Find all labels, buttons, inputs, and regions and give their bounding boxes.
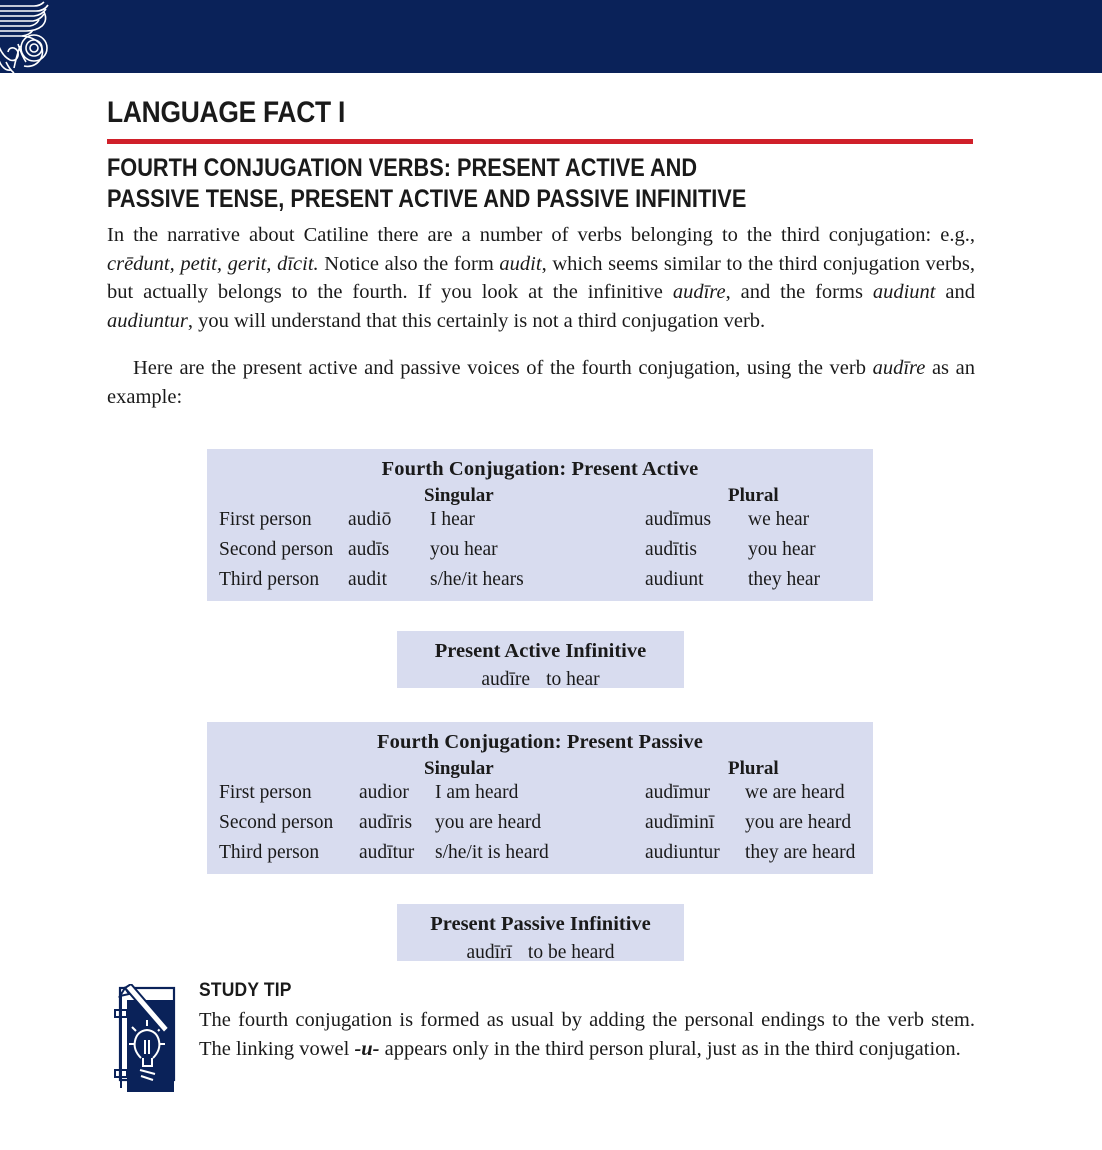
singular-english: I am heard <box>435 782 518 804</box>
latin-form-audit: audit <box>499 253 541 275</box>
example-text-1: Here are the present active and passive … <box>133 357 873 379</box>
infinitive-caption: Present Passive Infinitive <box>397 904 684 936</box>
plural-header: Plural <box>728 485 779 507</box>
example-intro-paragraph: Here are the present active and passive … <box>107 354 975 411</box>
infinitive-latin: audīrī <box>466 942 511 963</box>
person-label: Third person <box>219 842 319 864</box>
infinitive-english: to hear <box>546 669 600 690</box>
latin-form-audire: audīre <box>673 281 726 303</box>
plural-latin: audītis <box>645 539 697 561</box>
person-label: First person <box>219 509 312 531</box>
singular-latin: audītur <box>359 842 414 864</box>
study-tip-text: The fourth conjugation is formed as usua… <box>199 1006 975 1063</box>
table-row: First person audior I am heard audīmur w… <box>207 782 873 812</box>
table-number-headers: Singular Plural <box>207 481 873 509</box>
latin-forms-list: crēdunt, petit, gerit, dīcit. <box>107 253 319 275</box>
subtitle-line-2: PASSIVE TENSE, PRESENT ACTIVE AND PASSIV… <box>107 185 746 213</box>
table-caption: Fourth Conjugation: Present Passive <box>207 722 873 754</box>
singular-header: Singular <box>424 485 494 507</box>
latin-form-audiunt: audiunt <box>873 281 936 303</box>
page-header-band <box>0 0 1102 73</box>
intro-paragraph: In the narrative about Catiline there ar… <box>107 221 975 335</box>
table-caption: Fourth Conjugation: Present Active <box>207 449 873 481</box>
table-row: Second person audīris you are heard audī… <box>207 812 873 842</box>
singular-latin: audiō <box>348 509 391 531</box>
latin-form-audiuntur: audiuntur <box>107 310 188 332</box>
plural-english: they hear <box>748 569 820 591</box>
intro-text-2: Notice also the form <box>319 253 500 275</box>
tip-text-2: appears only in the third person plural,… <box>380 1038 961 1060</box>
person-label: Second person <box>219 812 333 834</box>
subtitle-line-1: FOURTH CONJUGATION VERBS: PRESENT ACTIVE… <box>107 154 697 182</box>
ionic-column-capital-icon <box>0 0 140 73</box>
study-tip-body: STUDY TIP The fourth conjugation is form… <box>199 980 975 1063</box>
page-title: LANGUAGE FACT I <box>107 95 871 131</box>
infinitive-forms: audīrīto be heard <box>397 936 684 966</box>
present-passive-table: Fourth Conjugation: Present Passive Sing… <box>207 722 873 874</box>
table-row: Second person audīs you hear audītis you… <box>207 539 873 569</box>
person-label: First person <box>219 782 312 804</box>
singular-english: I hear <box>430 509 475 531</box>
singular-english: you hear <box>430 539 498 561</box>
intro-text-6: , you will understand that this certainl… <box>188 310 765 332</box>
plural-latin: audīminī <box>645 812 714 834</box>
singular-english: you are heard <box>435 812 541 834</box>
infinitive-caption: Present Active Infinitive <box>397 631 684 663</box>
singular-header: Singular <box>424 758 494 780</box>
plural-latin: audiuntur <box>645 842 720 864</box>
intro-text-4: , and the forms <box>726 281 873 303</box>
person-label: Third person <box>219 569 319 591</box>
infinitive-latin: audīre <box>481 669 530 690</box>
table-number-headers: Singular Plural <box>207 754 873 782</box>
intro-text-1: In the narrative about Catiline there ar… <box>107 224 975 246</box>
plural-latin: audiunt <box>645 569 704 591</box>
title-rule <box>107 139 973 144</box>
section-subtitle: FOURTH CONJUGATION VERBS: PRESENT ACTIVE… <box>107 153 968 215</box>
person-label: Second person <box>219 539 333 561</box>
singular-english: s/he/it hears <box>430 569 524 591</box>
present-passive-infinitive-box: Present Passive Infinitive audīrīto be h… <box>397 904 684 961</box>
singular-latin: audīs <box>348 539 389 561</box>
plural-header: Plural <box>728 758 779 780</box>
study-tip-section: STUDY TIP The fourth conjugation is form… <box>107 980 975 1063</box>
singular-latin: audīris <box>359 812 412 834</box>
singular-english: s/he/it is heard <box>435 842 549 864</box>
singular-latin: audior <box>359 782 409 804</box>
plural-english: they are heard <box>745 842 855 864</box>
latin-verb-audire: audīre <box>873 357 926 379</box>
page-content: LANGUAGE FACT I FOURTH CONJUGATION VERBS… <box>107 95 975 411</box>
lightbulb-notebook-icon <box>107 984 187 1096</box>
intro-text-5: and <box>935 281 975 303</box>
plural-latin: audīmus <box>645 509 711 531</box>
table-row: Third person audit s/he/it hears audiunt… <box>207 569 873 599</box>
plural-english: you are heard <box>745 812 851 834</box>
study-tip-heading: STUDY TIP <box>199 980 913 1002</box>
infinitive-forms: audīreto hear <box>397 663 684 693</box>
plural-english: we are heard <box>745 782 845 804</box>
plural-english: you hear <box>748 539 816 561</box>
present-active-infinitive-box: Present Active Infinitive audīreto hear <box>397 631 684 688</box>
table-row: Third person audītur s/he/it is heard au… <box>207 842 873 872</box>
present-active-table: Fourth Conjugation: Present Active Singu… <box>207 449 873 601</box>
plural-english: we hear <box>748 509 809 531</box>
plural-latin: audīmur <box>645 782 710 804</box>
singular-latin: audit <box>348 569 387 591</box>
table-row: First person audiō I hear audīmus we hea… <box>207 509 873 539</box>
infinitive-english: to be heard <box>528 942 615 963</box>
linking-vowel-emphasis: -u- <box>354 1038 379 1060</box>
